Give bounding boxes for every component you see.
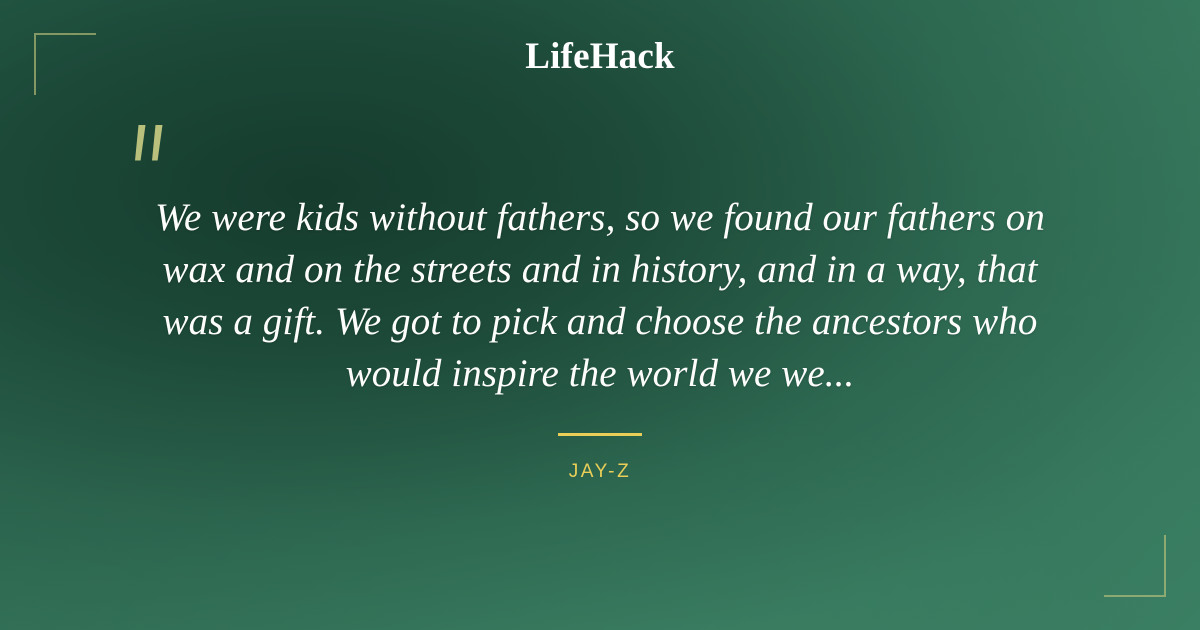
attribution: JAY-Z	[0, 433, 1200, 481]
corner-bracket-bottom-right-icon	[1104, 535, 1166, 597]
quote-line: was a gift. We got to pick and choose th…	[100, 296, 1100, 348]
quote-text: We were kids without fathers, so we foun…	[100, 192, 1100, 400]
brand-logo: LifeHack	[0, 38, 1200, 75]
quote-line: wax and on the streets and in history, a…	[100, 244, 1100, 296]
attribution-divider	[558, 433, 642, 436]
quote-line: We were kids without fathers, so we foun…	[100, 192, 1100, 244]
quote-line: would inspire the world we we...	[100, 348, 1100, 400]
attribution-author: JAY-Z	[0, 462, 1200, 481]
quote-card: LifeHack We were kids without fathers, s…	[0, 0, 1200, 630]
quote-mark-icon	[126, 111, 176, 167]
